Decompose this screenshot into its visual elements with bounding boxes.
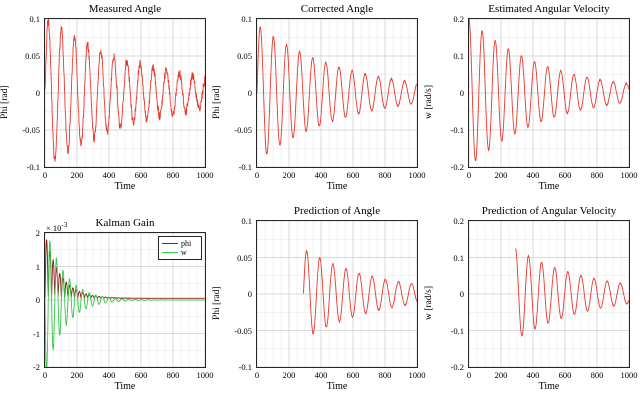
ytick-prediction-of-angular-velocity-3: 0.1 [434, 253, 464, 263]
xtick-prediction-of-angular-velocity-0: 0 [455, 370, 483, 380]
xtick-prediction-of-angular-velocity-5: 1000 [615, 370, 640, 380]
plot-svg-prediction-of-angular-velocity [469, 221, 629, 367]
ytick-prediction-of-angular-velocity-1: -0.1 [434, 326, 464, 336]
ytick-prediction-of-angular-velocity-2: 0 [434, 289, 464, 299]
ytick-prediction-of-angular-velocity-4: 0.2 [434, 216, 464, 226]
yaxis-label-prediction-of-angular-velocity: w [rad/s] [424, 286, 434, 320]
xtick-prediction-of-angular-velocity-4: 800 [583, 370, 611, 380]
figure-canvas: Measured Angle-0.1-0.0500.050.1020040060… [0, 0, 640, 402]
plot-area-prediction-of-angular-velocity [468, 220, 630, 368]
xtick-prediction-of-angular-velocity-3: 600 [551, 370, 579, 380]
xtick-prediction-of-angular-velocity-2: 400 [519, 370, 547, 380]
xaxis-label-prediction-of-angular-velocity: Time [468, 381, 630, 392]
xtick-prediction-of-angular-velocity-1: 200 [487, 370, 515, 380]
chart-panel-prediction-of-angular-velocity: Prediction of Angular Velocity-0.2-0.100… [0, 0, 640, 402]
series-w-prediction [515, 249, 628, 336]
